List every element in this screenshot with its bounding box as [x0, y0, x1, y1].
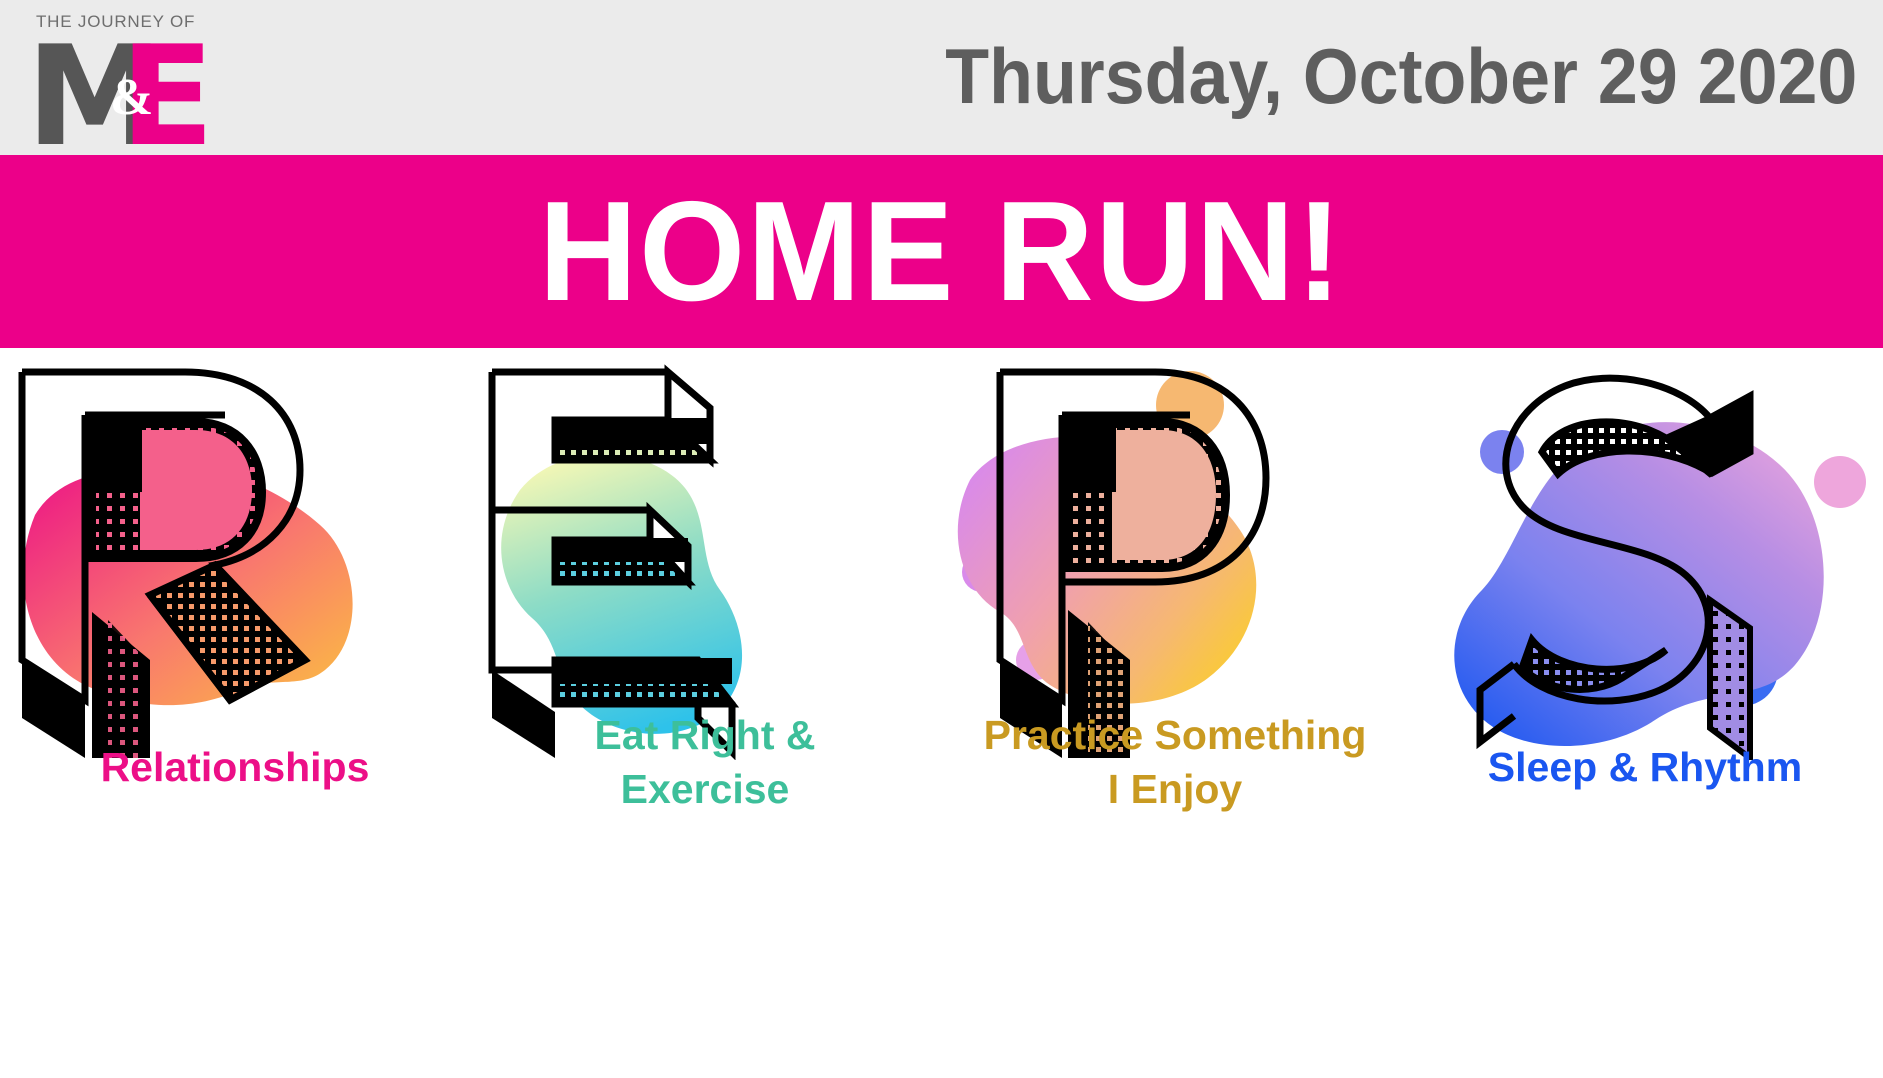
logo-ampersand-icon: &: [110, 72, 153, 124]
date-label: Thursday, October 29 2020: [945, 28, 1857, 124]
reps-card-eat-right-exercise: Eat Right & Exercise: [470, 348, 940, 1078]
caption-relationships: Relationships: [0, 740, 470, 794]
brand-logo: THE JOURNEY OF M E &: [16, 6, 216, 151]
letter-p-artwork: [940, 360, 1410, 760]
letter-r-artwork: [0, 360, 470, 760]
caption-sleep-rhythm: Sleep & Rhythm: [1410, 740, 1880, 794]
banner: HOME RUN!: [0, 155, 1883, 348]
reps-card-row: Relationships: [0, 348, 1883, 1078]
caption-eat-right-exercise: Eat Right & Exercise: [470, 708, 940, 816]
banner-title: HOME RUN!: [539, 177, 1344, 327]
reps-card-practice-something: Practice Something I Enjoy: [940, 348, 1410, 1078]
letter-s-artwork: [1410, 360, 1880, 760]
header-bar: THE JOURNEY OF M E & Thursday, October 2…: [0, 0, 1883, 155]
reps-card-sleep-rhythm: Sleep & Rhythm: [1410, 348, 1880, 1078]
main-content: Relationships: [0, 348, 1883, 1078]
caption-practice-something: Practice Something I Enjoy: [940, 708, 1410, 816]
letter-e-artwork: [470, 360, 940, 760]
reps-card-relationships: Relationships: [0, 348, 470, 1078]
